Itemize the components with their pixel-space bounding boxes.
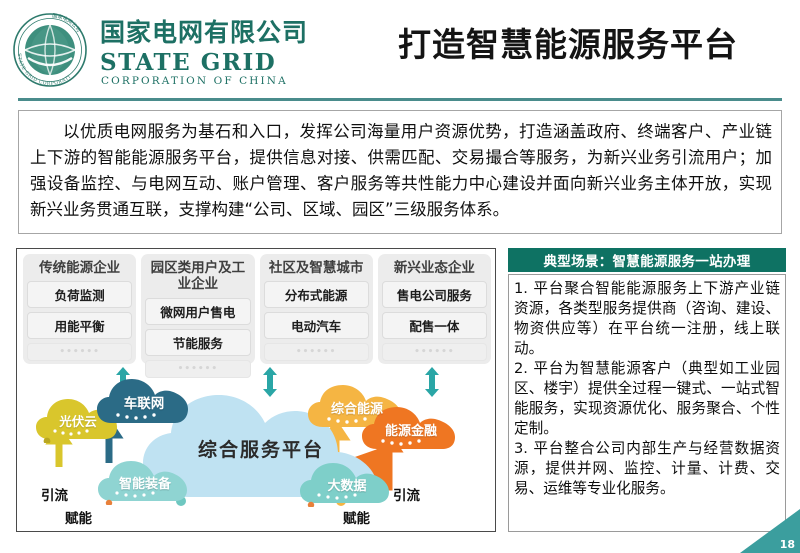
cloud-label: 光伏云: [59, 411, 97, 430]
architecture-panel: 传统能源企业 负荷监测 用能平衡 •••••• 园区类用户及工业企业 微网用户售…: [16, 248, 496, 532]
category-title: 社区及智慧城市: [269, 260, 364, 276]
scenario-paragraph-2: 2. 平台为智慧能源客户（典型如工业园区、楼宇）提供全过程一键式、一站式智能服务…: [514, 359, 780, 439]
category-item[interactable]: 售电公司服务: [382, 281, 487, 308]
slide-root: 国家电网公司 STATE GRID CORPORATION OF CHINA 国…: [0, 0, 800, 553]
category-item[interactable]: 节能服务: [145, 329, 250, 356]
cloud-platform-label: 综合服务平台: [198, 435, 324, 462]
flow-label-right-empower: 赋能: [343, 507, 370, 527]
category-item[interactable]: 电动汽车: [264, 312, 369, 339]
category-title: 传统能源企业: [39, 260, 120, 276]
logo-chinese-name: 国家电网有限公司: [100, 20, 308, 45]
category-card-community-smart-city[interactable]: 社区及智慧城市 分布式能源 电动汽车 ••••••: [260, 254, 373, 364]
cloud-label: 能源金融: [385, 420, 437, 439]
page-number: 18: [780, 538, 795, 551]
flow-label-left-inflow: 引流: [41, 484, 68, 504]
flow-label-right-inflow: 引流: [393, 484, 420, 504]
category-title: 园区类用户及工业企业: [145, 260, 250, 293]
scenario-panel-body: 1. 平台聚合智能能源服务上下游产业链资源，各类型服务提供商（咨询、建设、物资供…: [508, 274, 786, 532]
category-item-placeholder: ••••••: [264, 343, 369, 361]
category-item[interactable]: 用能平衡: [27, 312, 132, 339]
cloud-label: 车联网: [124, 392, 165, 412]
logo-english-subtitle: CORPORATION OF CHINA: [101, 76, 288, 87]
category-item[interactable]: 分布式能源: [264, 281, 369, 308]
intro-box: 以优质电网服务为基石和入口，发挥公司海量用户资源优势，打造涵盖政府、终端客户、产…: [18, 110, 782, 234]
category-item[interactable]: 负荷监测: [27, 281, 132, 308]
intro-paragraph: 以优质电网服务为基石和入口，发挥公司海量用户资源优势，打造涵盖政府、终端客户、产…: [30, 119, 772, 223]
category-card-traditional-energy[interactable]: 传统能源企业 负荷监测 用能平衡 ••••••: [23, 254, 136, 364]
cloud-label: 智能装备: [119, 473, 171, 492]
category-item-placeholder: ••••••: [27, 343, 132, 361]
state-grid-globe-icon: 国家电网公司 STATE GRID CORPORATION OF CHINA: [12, 12, 88, 88]
logo-english-name: STATE GRID: [100, 51, 276, 74]
category-item[interactable]: 配售一体: [382, 312, 487, 339]
slide-header: 国家电网公司 STATE GRID CORPORATION OF CHINA 国…: [0, 0, 800, 98]
scenario-paragraph-1: 1. 平台聚合智能能源服务上下游产业链资源，各类型服务提供商（咨询、建设、物资供…: [514, 279, 780, 359]
cloud-node-iov[interactable]: 车联网: [96, 377, 192, 427]
cloud-node-smart-equipment[interactable]: 智能装备: [97, 459, 193, 505]
category-title: 新兴业态企业: [394, 260, 475, 276]
customer-category-row: 传统能源企业 负荷监测 用能平衡 •••••• 园区类用户及工业企业 微网用户售…: [23, 254, 491, 364]
flow-label-left-empower: 赋能: [65, 507, 92, 527]
category-item[interactable]: 微网用户售电: [145, 298, 250, 325]
scenario-panel-heading: 典型场景：智慧能源服务一站办理: [508, 248, 786, 272]
scenario-panel: 典型场景：智慧能源服务一站办理 1. 平台聚合智能能源服务上下游产业链资源，各类…: [508, 248, 786, 532]
category-item-placeholder: ••••••: [382, 343, 487, 361]
cloud-label: 大数据: [327, 475, 366, 494]
page-title: 打造智慧能源服务平台: [398, 25, 782, 65]
page-number-corner: 18: [740, 509, 800, 553]
category-card-industrial-park[interactable]: 园区类用户及工业企业 微网用户售电 节能服务 ••••••: [141, 254, 254, 364]
header-divider: [18, 98, 782, 101]
cloud-label: 综合能源: [331, 398, 383, 417]
scenario-paragraph-3: 3. 平台整合公司内部生产与经营数据资源，提供并网、监控、计量、计费、交易、运维…: [514, 439, 780, 499]
platform-cloud-diagram: 综合服务平台 光伏云: [21, 367, 493, 529]
brand-logo: 国家电网公司 STATE GRID CORPORATION OF CHINA 国…: [12, 10, 262, 88]
cloud-node-big-data[interactable]: 大数据: [299, 461, 395, 507]
category-card-emerging-business[interactable]: 新兴业态企业 售电公司服务 配售一体 ••••••: [378, 254, 491, 364]
